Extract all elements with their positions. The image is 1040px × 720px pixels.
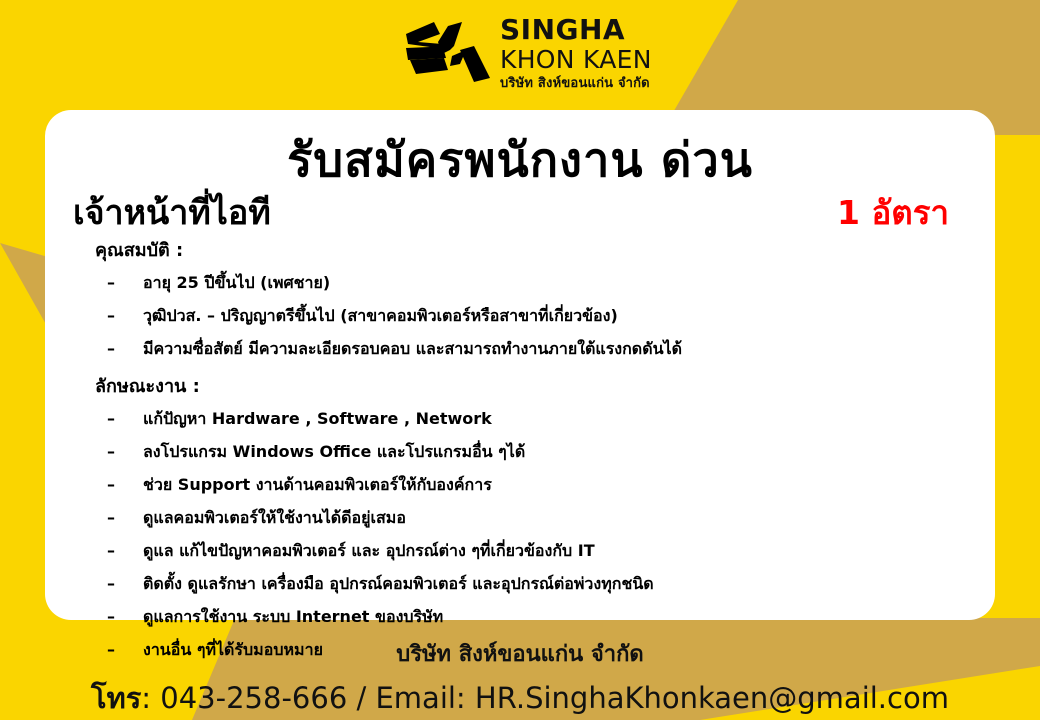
list-item: – ดูแลคอมพิวเตอร์ให้ใช้งานได้ดีอยู่เสมอ	[95, 506, 975, 531]
bullet-dash-icon: –	[95, 574, 143, 593]
logo-brand-line2: KHON KAEN	[500, 47, 704, 72]
section-qualifications: คุณสมบัติ : – อายุ 25 ปีขึ้นไป (เพศชาย) …	[95, 235, 975, 362]
footer-contact-line: โทร: 043-258-666 / Email: HR.SinghaKhonk…	[0, 675, 1040, 720]
qualifications-list: – อายุ 25 ปีขึ้นไป (เพศชาย) – วุฒิปวส. –…	[95, 271, 975, 362]
list-item-label: ดูแลคอมพิวเตอร์ให้ใช้งานได้ดีอยู่เสมอ	[143, 506, 406, 531]
list-item-label: ดูแลการใช้งาน ระบบ Internet ของบริษัท	[143, 605, 443, 630]
list-item: – ช่วย Support งานด้านคอมพิวเตอร์ให้กับอ…	[95, 473, 975, 498]
content-card: รับสมัครพนักงาน ด่วน เจ้าหน้าที่ไอที 1 อ…	[45, 110, 995, 620]
section-heading: ลักษณะงาน :	[95, 371, 975, 400]
list-item-label: ช่วย Support งานด้านคอมพิวเตอร์ให้กับองค…	[143, 473, 492, 498]
list-item: – มีความซื่อสัตย์ มีความละเอียดรอบคอบ แล…	[95, 337, 975, 362]
list-item: – วุฒิปวส. – ปริญญาตรีขึ้นไป (สาขาคอมพิว…	[95, 304, 975, 329]
list-item: – ดูแล แก้ไขปัญหาคอมพิวเตอร์ และ อุปกรณ์…	[95, 539, 975, 564]
position-title: เจ้าหน้าที่ไอที	[73, 185, 271, 239]
bullet-dash-icon: –	[95, 339, 143, 358]
footer: บริษัท สิงห์ขอนแก่น จำกัด โทร: 043-258-6…	[0, 636, 1040, 720]
position-vacancy-count: 1 อัตรา	[837, 186, 963, 239]
logo-brand-thai: บริษัท สิงห์ขอนแก่น จำกัด	[500, 77, 704, 90]
footer-phone-label: โทร	[91, 681, 141, 715]
decorative-gold-wedge-left	[0, 243, 48, 328]
bullet-dash-icon: –	[95, 607, 143, 626]
job-posting-poster: SINGHA KHON KAEN บริษัท สิงห์ขอนแก่น จำก…	[0, 0, 1040, 720]
list-item-label: มีความซื่อสัตย์ มีความละเอียดรอบคอบ และส…	[143, 337, 682, 362]
job-description-list: – แก้ปัญหา Hardware , Software , Network…	[95, 407, 975, 663]
list-item: – ลงโปรแกรม Windows Office และโปรแกรมอื่…	[95, 440, 975, 465]
bullet-dash-icon: –	[95, 475, 143, 494]
sections-container: คุณสมบัติ : – อายุ 25 ปีขึ้นไป (เพศชาย) …	[95, 235, 975, 672]
list-item: – ติดตั้ง ดูแลรักษา เครื่องมือ อุปกรณ์คอ…	[95, 572, 975, 597]
list-item-label: ติดตั้ง ดูแลรักษา เครื่องมือ อุปกรณ์คอมพ…	[143, 572, 654, 597]
bullet-dash-icon: –	[95, 508, 143, 527]
company-logo: SINGHA KHON KAEN บริษัท สิงห์ขอนแก่น จำก…	[404, 16, 704, 92]
section-job-description: ลักษณะงาน : – แก้ปัญหา Hardware , Softwa…	[95, 371, 975, 663]
section-heading: คุณสมบัติ :	[95, 235, 975, 264]
list-item: – แก้ปัญหา Hardware , Software , Network	[95, 407, 975, 432]
bullet-dash-icon: –	[95, 306, 143, 325]
list-item-label: วุฒิปวส. – ปริญญาตรีขึ้นไป (สาขาคอมพิวเต…	[143, 304, 618, 329]
footer-contact-value: : 043-258-666 / Email: HR.SinghaKhonkaen…	[141, 681, 949, 715]
footer-company-name: บริษัท สิงห์ขอนแก่น จำกัด	[0, 636, 1040, 671]
bullet-dash-icon: –	[95, 409, 143, 428]
position-row: เจ้าหน้าที่ไอที 1 อัตรา	[73, 185, 963, 239]
logo-brand-line1: SINGHA	[500, 16, 704, 44]
list-item-label: แก้ปัญหา Hardware , Software , Network	[143, 407, 492, 432]
sk-monogram-icon	[404, 20, 492, 84]
list-item: – ดูแลการใช้งาน ระบบ Internet ของบริษัท	[95, 605, 975, 630]
bullet-dash-icon: –	[95, 541, 143, 560]
bullet-dash-icon: –	[95, 273, 143, 292]
list-item-label: ลงโปรแกรม Windows Office และโปรแกรมอื่น …	[143, 440, 525, 465]
logo-wordmark: SINGHA KHON KAEN บริษัท สิงห์ขอนแก่น จำก…	[500, 16, 704, 90]
list-item-label: ดูแล แก้ไขปัญหาคอมพิวเตอร์ และ อุปกรณ์ต่…	[143, 539, 595, 564]
list-item-label: อายุ 25 ปีขึ้นไป (เพศชาย)	[143, 271, 330, 296]
list-item: – อายุ 25 ปีขึ้นไป (เพศชาย)	[95, 271, 975, 296]
bullet-dash-icon: –	[95, 442, 143, 461]
